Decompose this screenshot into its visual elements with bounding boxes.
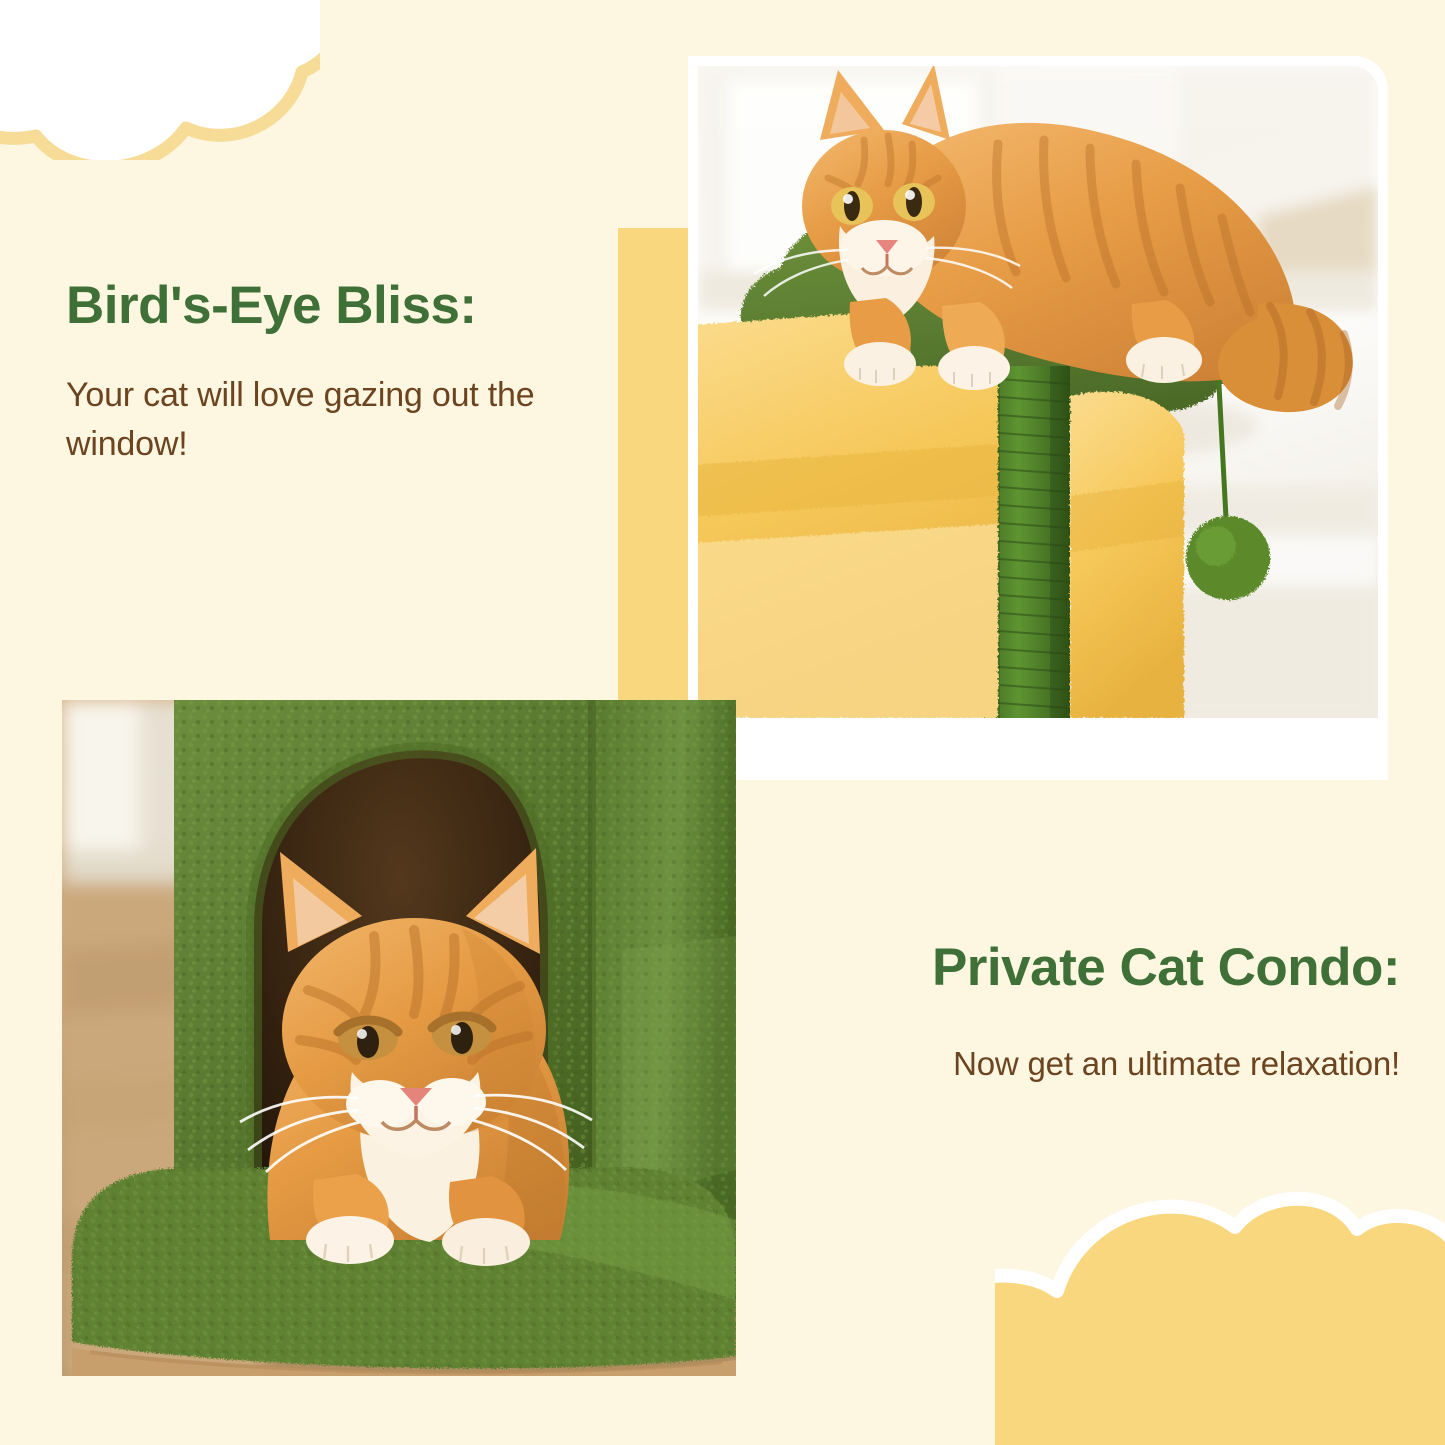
cloud-top-left-icon xyxy=(0,0,320,160)
cat-in-condo-illustration xyxy=(62,700,736,1376)
poster-canvas: Bird's-Eye Bliss: Your cat will love gaz… xyxy=(0,0,1445,1445)
photo-frame-top-right xyxy=(688,56,1388,780)
cloud-bottom-right-icon xyxy=(995,1165,1445,1445)
headline-bird-eye: Bird's-Eye Bliss: xyxy=(66,276,656,335)
text-block-bird-eye: Bird's-Eye Bliss: Your cat will love gaz… xyxy=(66,276,656,468)
body-bird-eye: Your cat will love gazing out the window… xyxy=(66,371,656,468)
photo-top-right xyxy=(698,66,1378,718)
cat-on-perch-illustration xyxy=(698,66,1378,718)
photo-frame-bottom-left xyxy=(62,700,736,1376)
text-block-cat-condo: Private Cat Condo: Now get an ultimate r… xyxy=(760,938,1400,1088)
headline-cat-condo: Private Cat Condo: xyxy=(760,938,1400,997)
photo-bottom-left xyxy=(62,700,736,1376)
body-cat-condo: Now get an ultimate relaxation! xyxy=(760,1041,1400,1088)
